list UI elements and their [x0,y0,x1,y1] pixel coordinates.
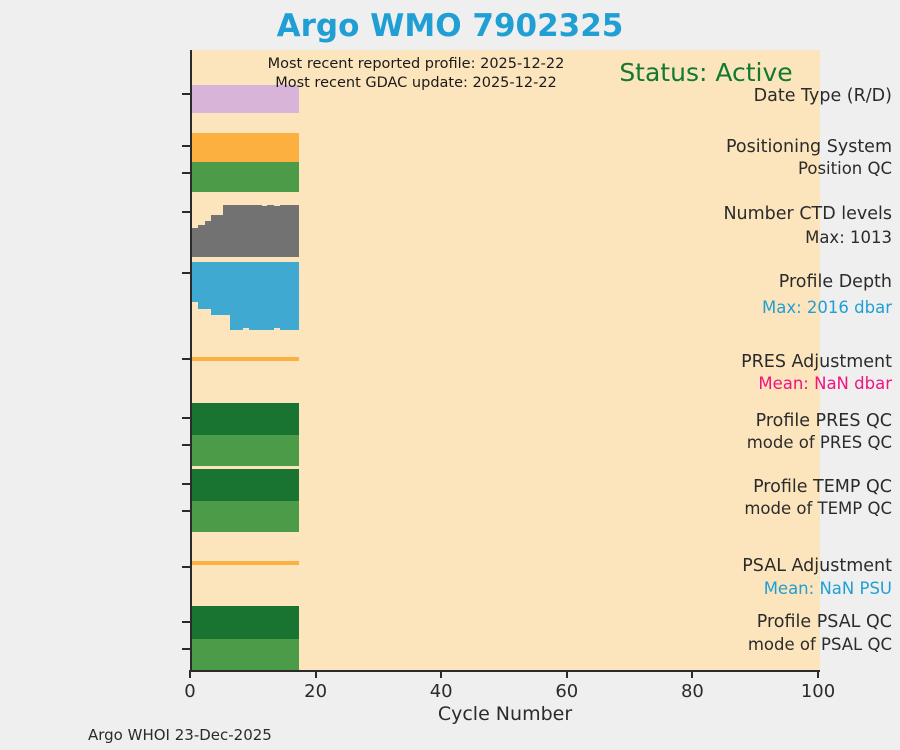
y-tick [182,145,190,147]
x-tick [440,670,442,678]
row-sublabel-max-2016-dbar: Max: 2016 dbar [712,299,900,317]
x-tick-label: 60 [537,681,597,702]
row-sublabel-position-qc: Position QC [712,160,900,178]
row-label-psal-adjustment: PSAL Adjustment [712,557,900,577]
track-positioning-system [192,133,299,162]
row-label-profile-temp-qc: Profile TEMP QC [712,478,900,498]
track-psal-adjustment [192,561,299,565]
x-axis-label: Cycle Number [190,703,820,725]
x-tick-label: 100 [788,681,848,702]
row-sublabel-mean-nan-psu: Mean: NaN PSU [712,580,900,598]
recent-dates-annotation: Most recent reported profile: 2025-12-22… [226,55,606,92]
y-tick [182,172,190,174]
track-profile-psal-qc [192,606,299,639]
row-sublabel-mean-nan-dbar: Mean: NaN dbar [712,375,900,393]
x-tick-label: 0 [160,681,220,702]
y-tick [182,93,190,95]
recent-gdac-text: Most recent GDAC update: 2025-12-22 [226,74,606,93]
x-tick [691,670,693,678]
y-tick [182,444,190,446]
y-tick [182,621,190,623]
recent-profile-text: Most recent reported profile: 2025-12-22 [226,55,606,74]
x-tick-label: 40 [411,681,471,702]
footer-credit: Argo WHOI 23-Dec-2025 [88,726,272,744]
row-label-profile-pres-qc: Profile PRES QC [712,412,900,432]
row-label-date-type-r-d-: Date Type (R/D) [712,87,900,107]
y-tick [182,566,190,568]
row-label-profile-depth: Profile Depth [712,273,900,293]
track-pres-adjustment [192,357,299,361]
row-label-number-ctd-levels: Number CTD levels [712,205,900,225]
track-mode-of-temp-qc [192,501,299,532]
track-profile-depth-cycle [292,262,299,330]
x-tick [315,670,317,678]
y-tick [182,483,190,485]
row-sublabel-mode-of-temp-qc: mode of TEMP QC [712,500,900,518]
row-sublabel-mode-of-psal-qc: mode of PSAL QC [712,636,900,654]
track-position-qc [192,162,299,192]
track-profile-temp-qc [192,469,299,501]
row-sublabel-mode-of-pres-qc: mode of PRES QC [712,434,900,452]
argo-float-status-chart: Argo WMO 7902325 Most recent reported pr… [0,0,900,750]
x-tick [817,670,819,678]
y-tick [182,510,190,512]
x-tick [189,670,191,678]
x-tick [566,670,568,678]
x-axis-line [190,670,820,672]
row-label-pres-adjustment: PRES Adjustment [712,353,900,373]
track-profile-pres-qc [192,403,299,435]
status-badge: Status: Active [596,58,816,87]
x-tick-label: 20 [286,681,346,702]
row-sublabel-max-1013: Max: 1013 [712,229,900,247]
track-mode-of-psal-qc [192,639,299,671]
y-tick [182,211,190,213]
y-tick [182,358,190,360]
track-mode-of-pres-qc [192,435,299,466]
y-tick [182,648,190,650]
y-tick [182,272,190,274]
row-label-profile-psal-qc: Profile PSAL QC [712,613,900,633]
x-tick-label: 80 [662,681,722,702]
row-label-positioning-system: Positioning System [712,138,900,158]
page-title: Argo WMO 7902325 [0,8,900,44]
y-tick [182,417,190,419]
track-number-ctd-levels-cycle [292,205,299,257]
